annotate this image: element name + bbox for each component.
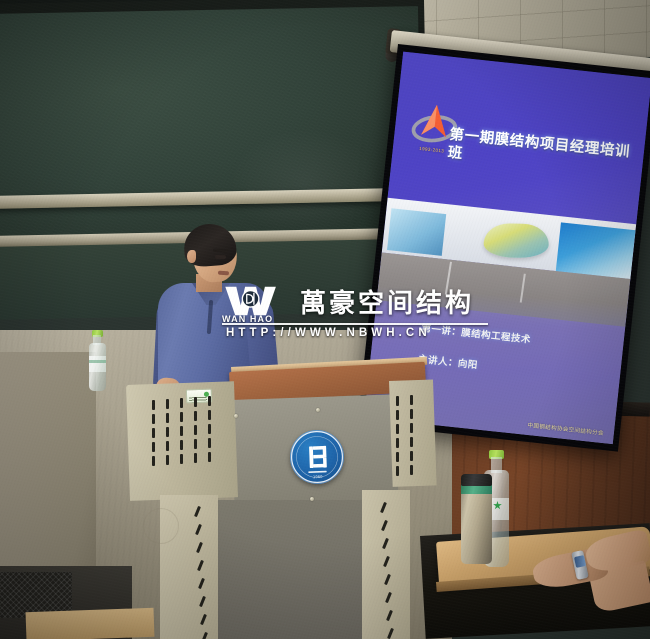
photo-scene: 1993-2013 第一期膜结构项目经理培训班 第一讲：膜结构工程技术 主讲人：… [0, 0, 650, 639]
bottle-left-stripe [89, 360, 106, 363]
podium-base-center [218, 500, 364, 639]
university-emblem: 1960 [289, 429, 345, 485]
desk-front-left [26, 608, 155, 639]
thermos-cap [461, 474, 492, 486]
slide-photo-1 [387, 208, 446, 256]
thermos-body [461, 484, 492, 564]
speaker-mouth [218, 271, 229, 276]
chalkboard-smudge [228, 127, 380, 240]
slide-photo-2 [483, 223, 549, 258]
speaker-eye [215, 255, 226, 260]
podium-screw-1 [234, 414, 238, 418]
speaker-ear [187, 250, 196, 263]
slide-photo-3 [556, 222, 636, 280]
podium-faint-seal [143, 508, 179, 544]
bottle-left-label [89, 356, 106, 372]
svg-text:1960: 1960 [313, 474, 323, 479]
podium-screw-3 [310, 497, 314, 501]
wristwatch-face [574, 555, 586, 568]
podium-screw-2 [316, 408, 320, 412]
podium-label-lines [189, 397, 207, 403]
